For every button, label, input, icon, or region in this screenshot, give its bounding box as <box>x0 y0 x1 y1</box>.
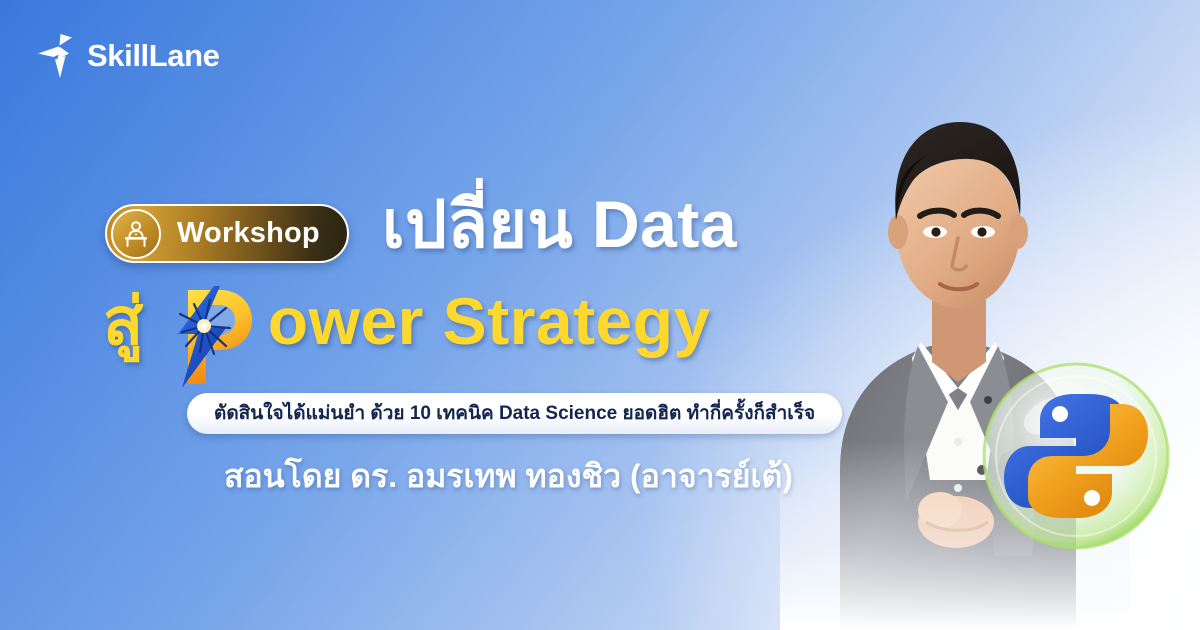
subtitle-pill: ตัดสินใจได้แม่นยำ ด้วย 10 เทคนิค Data Sc… <box>187 393 842 434</box>
presenter-podium-icon <box>111 209 161 259</box>
headline-line-2-prefix: สู่ <box>103 283 144 361</box>
headline-line-2: สู่ <box>103 283 711 389</box>
skilllane-arrow-mark-icon <box>38 34 78 78</box>
subtitle-text: ตัดสินใจได้แม่นยำ ด้วย 10 เทคนิค Data Sc… <box>214 404 815 423</box>
skilllane-logo[interactable]: SkillLane <box>38 33 220 79</box>
workshop-badge-label: Workshop <box>177 219 320 248</box>
headline-line-2-suffix: ower Strategy <box>268 283 711 361</box>
workshop-badge: Workshop <box>105 204 349 263</box>
instructor-credit: สอนโดย ดร. อมรเทพ ทองชิว (อาจารย์เต้) <box>224 457 793 495</box>
headline-line-1: เปลี่ยน Data <box>382 186 737 264</box>
lightning-bolt-p-icon <box>158 283 270 389</box>
course-banner: SkillLane Workshop เปลี่ยน Data สู่ <box>0 0 1200 630</box>
brand-name: SkillLane <box>87 40 220 73</box>
python-logo-badge <box>978 358 1174 554</box>
